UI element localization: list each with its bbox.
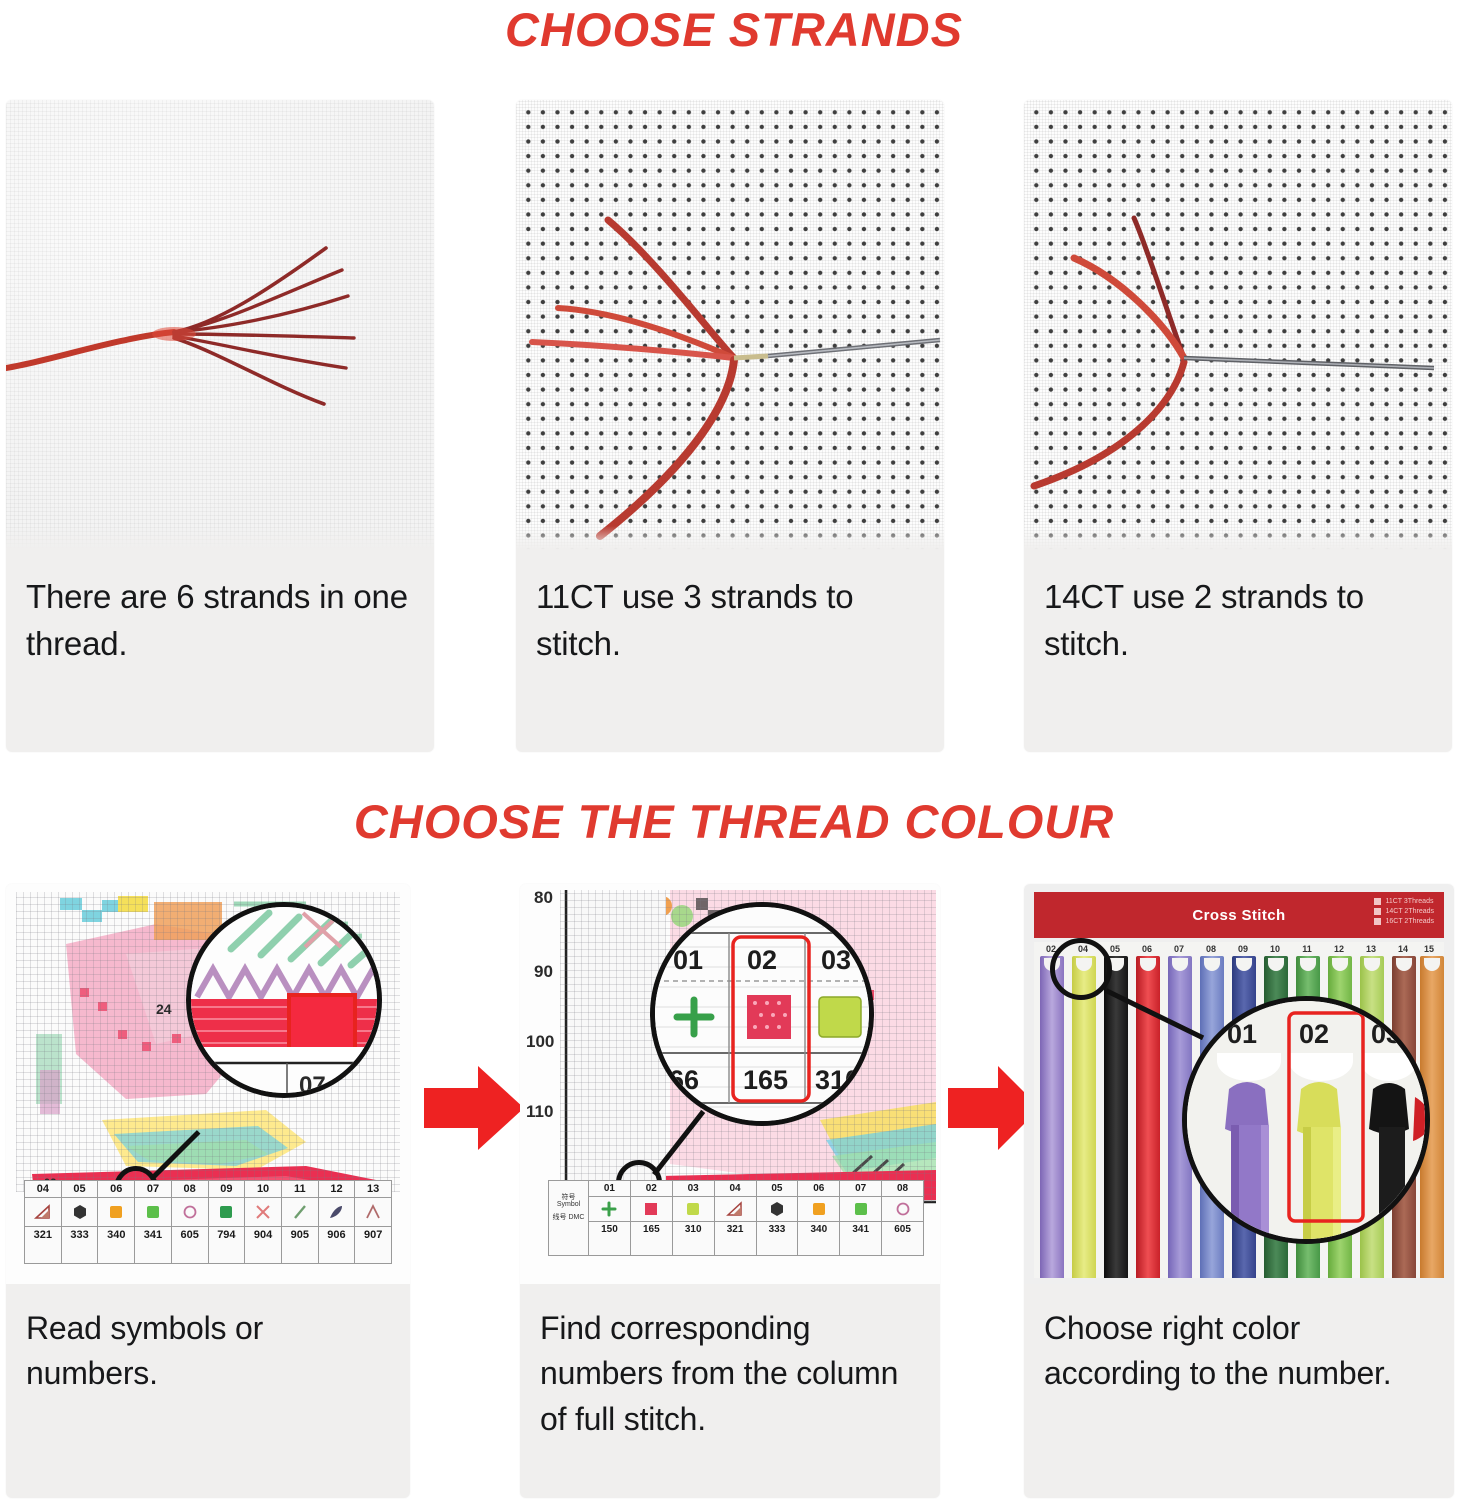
legend-symbol-hexagon-filled-icon: [62, 1197, 98, 1227]
skein-number: 08: [1196, 944, 1226, 954]
magnifier-pattern-detail: 07: [186, 902, 382, 1098]
legend-number: 08: [172, 1181, 208, 1197]
legend-column: 01 150: [589, 1181, 631, 1255]
legend-column: 11 905: [282, 1181, 319, 1263]
legend-code: 905: [282, 1227, 318, 1243]
photo-thread-card: Cross Stitch 11CT 3Threads 14CT 2Threads…: [1024, 884, 1454, 1284]
checkbox-icon: [1374, 918, 1381, 925]
photo-three-strands: [516, 100, 944, 552]
legend-symbol-circle-outline-icon: [172, 1197, 208, 1227]
three-strands-needle-illustration: [516, 100, 944, 552]
caption-read-symbols: Read symbols or numbers.: [6, 1284, 410, 1411]
legend-code: 605: [172, 1227, 208, 1243]
y-axis-label-80: 80: [534, 888, 553, 908]
legend-code: 150: [589, 1222, 630, 1237]
svg-text:02: 02: [747, 945, 777, 975]
legend-column: 09 794: [209, 1181, 246, 1263]
skein-number: 11: [1292, 944, 1322, 954]
card-choose-color: Cross Stitch 11CT 3Threads 14CT 2Threads…: [1024, 884, 1454, 1498]
legend-symbol-circle-outline-icon: [882, 1196, 923, 1222]
pattern-symbol-legend: 04 321 05 333 06: [24, 1180, 392, 1264]
legend-symbol-square-lime-icon: [673, 1196, 714, 1222]
legend-row-label-blank: [549, 1181, 588, 1188]
legend-number: 10: [245, 1181, 281, 1197]
caption-choose-color: Choose right color according to the numb…: [1024, 1284, 1454, 1411]
legend-row-label-symbol: 符号 Symbol: [549, 1188, 588, 1214]
caption-fourteen-ct: 14CT use 2 strands to stitch.: [1024, 552, 1452, 682]
caption-six-strands: There are 6 strands in one thread.: [6, 552, 434, 682]
section-title-choose-thread-colour: CHOOSE THE THREAD COLOUR: [0, 794, 1468, 849]
legend-number: 05: [757, 1181, 798, 1196]
legend-number: 08: [882, 1181, 923, 1196]
section-title-choose-strands: CHOOSE STRANDS: [0, 2, 1468, 57]
photo-pattern-chart: 24 02: [6, 884, 410, 1284]
skein-number: 14: [1388, 944, 1418, 954]
checkbox-icon: [1374, 908, 1381, 915]
legend-number: 04: [715, 1181, 756, 1196]
photo-bottom-fade: [516, 526, 944, 552]
legend-number: 04: [25, 1181, 61, 1197]
photo-bottom-fade: [1024, 526, 1452, 552]
legend-number: 02: [631, 1181, 672, 1196]
legend-column: 08 605: [882, 1181, 923, 1255]
legend-number: 01: [589, 1181, 630, 1196]
legend-symbol-slash-icon: [282, 1197, 318, 1227]
legend-row-labels: 符号 Symbol 线号 DMC: [549, 1181, 589, 1255]
svg-text:01: 01: [673, 945, 703, 975]
legend-code: 341: [135, 1227, 171, 1243]
check-option-label: 11CT 3Threads: [1385, 898, 1433, 905]
magnifier-focus-circle: [1050, 938, 1112, 1000]
card-fourteen-ct: 14CT use 2 strands to stitch.: [1024, 100, 1452, 752]
legend-code: 321: [25, 1227, 61, 1243]
legend-code: 310: [673, 1222, 714, 1237]
right-arrow-icon-1: [420, 1058, 528, 1158]
legend-number: 03: [673, 1181, 714, 1196]
legend-number: 05: [62, 1181, 98, 1197]
legend-column: 06 340: [98, 1181, 135, 1263]
legend-column: 02 165: [631, 1181, 673, 1255]
legend-number: 07: [135, 1181, 171, 1197]
legend-code: 340: [98, 1227, 134, 1243]
card-read-symbols: 24 02: [6, 884, 410, 1498]
legend-symbol-square-green-icon: [135, 1197, 171, 1227]
y-axis-label-100: 100: [526, 1032, 554, 1052]
legend-number: 12: [319, 1181, 355, 1197]
legend-column: 06 340: [798, 1181, 840, 1255]
thread-card-header: Cross Stitch 11CT 3Threads 14CT 2Threads…: [1034, 892, 1444, 938]
legend-code: 333: [62, 1227, 98, 1243]
thread-skein: [1104, 956, 1128, 1278]
check-option: 16CT 2Threads: [1374, 918, 1434, 925]
two-strands-needle-illustration: [1024, 100, 1452, 552]
legend-code: 907: [355, 1227, 391, 1243]
thread-card-title: Cross Stitch: [1192, 907, 1285, 924]
legend-number: 11: [282, 1181, 318, 1197]
legend-code: 341: [840, 1222, 881, 1237]
magnifier-thread-detail: 01 02 03: [1182, 996, 1430, 1244]
photo-two-strands: [1024, 100, 1452, 552]
y-axis-label-90: 90: [534, 962, 553, 982]
legend-code: 321: [715, 1222, 756, 1237]
legend-column: 05 333: [757, 1181, 799, 1255]
legend-number: 09: [209, 1181, 245, 1197]
thread-card-check-options: 11CT 3Threads 14CT 2Threads 16CT 2Thread…: [1374, 898, 1434, 925]
legend-column: 13 907: [355, 1181, 391, 1263]
legend-symbol-leaf-icon: [319, 1197, 355, 1227]
legend-symbol-triangle-half-icon: [715, 1196, 756, 1222]
svg-text:02: 02: [1299, 1019, 1329, 1049]
legend-symbol-square-orange-icon: [98, 1197, 134, 1227]
card-six-strands: There are 6 strands in one thread.: [6, 100, 434, 752]
photo-six-strands: [6, 100, 434, 552]
skein-number: 09: [1228, 944, 1258, 954]
legend-column: 04 321: [715, 1181, 757, 1255]
legend-number: 06: [98, 1181, 134, 1197]
skein-number: 15: [1416, 944, 1442, 954]
caption-eleven-ct: 11CT use 3 strands to stitch.: [516, 552, 944, 682]
legend-code: 904: [245, 1227, 281, 1243]
card-find-numbers: 80 90 100 110: [520, 884, 940, 1498]
legend-code: 340: [798, 1222, 839, 1237]
svg-text:03: 03: [821, 945, 851, 975]
magnifier-chart-detail: 01 66 02 165 03: [650, 902, 874, 1126]
legend-symbol-x-cross-icon: [245, 1197, 281, 1227]
legend-symbol-hexagon-filled-icon: [757, 1196, 798, 1222]
check-option-label: 16CT 2Threads: [1385, 918, 1434, 925]
legend-row-label-dmc: 线号 DMC: [549, 1214, 588, 1221]
infographic-page: CHOOSE STRANDS There are 6 strands in on…: [0, 0, 1468, 1500]
legend-symbol-square-darkgreen-icon: [209, 1197, 245, 1227]
photo-bottom-fade: [6, 526, 434, 552]
legend-symbol-caret-icon: [355, 1197, 391, 1227]
card-eleven-ct: 11CT use 3 strands to stitch.: [516, 100, 944, 752]
legend-column: 05 333: [62, 1181, 99, 1263]
magnified-thread-content: 01 02 03: [1187, 1001, 1430, 1244]
skein-number: 07: [1164, 944, 1194, 954]
legend-code: 165: [631, 1222, 672, 1237]
stitch-symbol-legend: 符号 Symbol 线号 DMC 01 150 02 165: [548, 1180, 924, 1256]
legend-column: 10 904: [245, 1181, 282, 1263]
check-option: 14CT 2Threads: [1374, 908, 1434, 915]
checkbox-icon: [1374, 898, 1381, 905]
legend-number: 07: [840, 1181, 881, 1196]
legend-column: 12 906: [319, 1181, 356, 1263]
legend-code: 794: [209, 1227, 245, 1243]
legend-symbol-square-green-icon: [840, 1196, 881, 1222]
legend-number: 13: [355, 1181, 391, 1197]
svg-text:01: 01: [1227, 1019, 1257, 1049]
legend-code: 605: [882, 1222, 923, 1237]
legend-column: 04 321: [25, 1181, 62, 1263]
y-axis-label-110: 110: [526, 1102, 553, 1122]
skein-number: 06: [1132, 944, 1162, 954]
legend-symbol-square-red-icon: [631, 1196, 672, 1222]
legend-column: 07 341: [840, 1181, 882, 1255]
magnified-chart-content: 01 66 02 165 03: [655, 907, 874, 1126]
legend-code: 906: [319, 1227, 355, 1243]
thread-skein: [1040, 956, 1064, 1278]
legend-column: 07 341: [135, 1181, 172, 1263]
legend-column: 08 605: [172, 1181, 209, 1263]
legend-number: 06: [798, 1181, 839, 1196]
thread-skein: [1072, 956, 1096, 1278]
six-strands-illustration: [6, 100, 434, 552]
legend-symbol-plus-green-icon: [589, 1196, 630, 1222]
legend-symbol-square-orange-icon: [798, 1196, 839, 1222]
check-option-label: 14CT 2Threads: [1385, 908, 1434, 915]
skein-number: 13: [1356, 944, 1386, 954]
legend-column: 03 310: [673, 1181, 715, 1255]
skein-number: 10: [1260, 944, 1290, 954]
legend-symbol-triangle-half-icon: [25, 1197, 61, 1227]
photo-stitch-chart: 80 90 100 110: [520, 884, 940, 1284]
svg-text:165: 165: [743, 1065, 788, 1095]
caption-find-numbers: Find corresponding numbers from the colu…: [520, 1284, 940, 1456]
check-option: 11CT 3Threads: [1374, 898, 1434, 905]
skein-number: 12: [1324, 944, 1354, 954]
legend-code: 333: [757, 1222, 798, 1237]
